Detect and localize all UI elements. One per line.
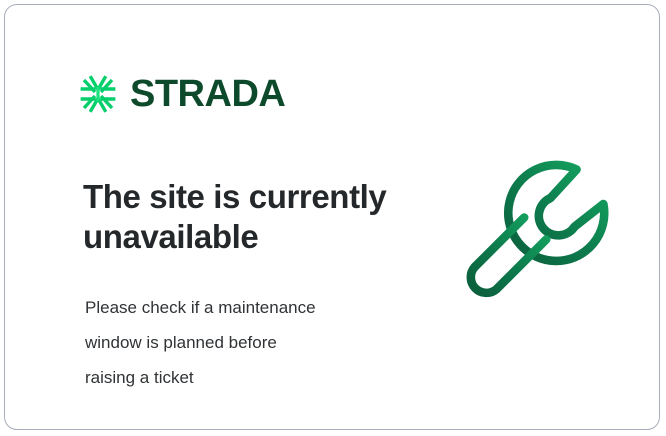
page-title-line-1: The site is currently: [83, 177, 423, 217]
wrench-icon: [460, 160, 620, 316]
page-description: Please check if a maintenance window is …: [85, 290, 415, 395]
page-description-line-1: Please check if a maintenance: [85, 290, 415, 325]
page-description-line-3: raising a ticket: [85, 360, 415, 395]
brand-lockup: STRADA: [79, 73, 285, 115]
status-card: STRADA The site is currently unavailable…: [4, 4, 660, 430]
page-title: The site is currently unavailable: [83, 177, 423, 256]
brand-wordmark: STRADA: [130, 75, 285, 113]
page-description-line-2: window is planned before: [85, 325, 415, 360]
error-page: STRADA The site is currently unavailable…: [0, 0, 666, 436]
page-title-line-2: unavailable: [83, 217, 423, 257]
strada-asterisk-icon: [79, 73, 117, 115]
